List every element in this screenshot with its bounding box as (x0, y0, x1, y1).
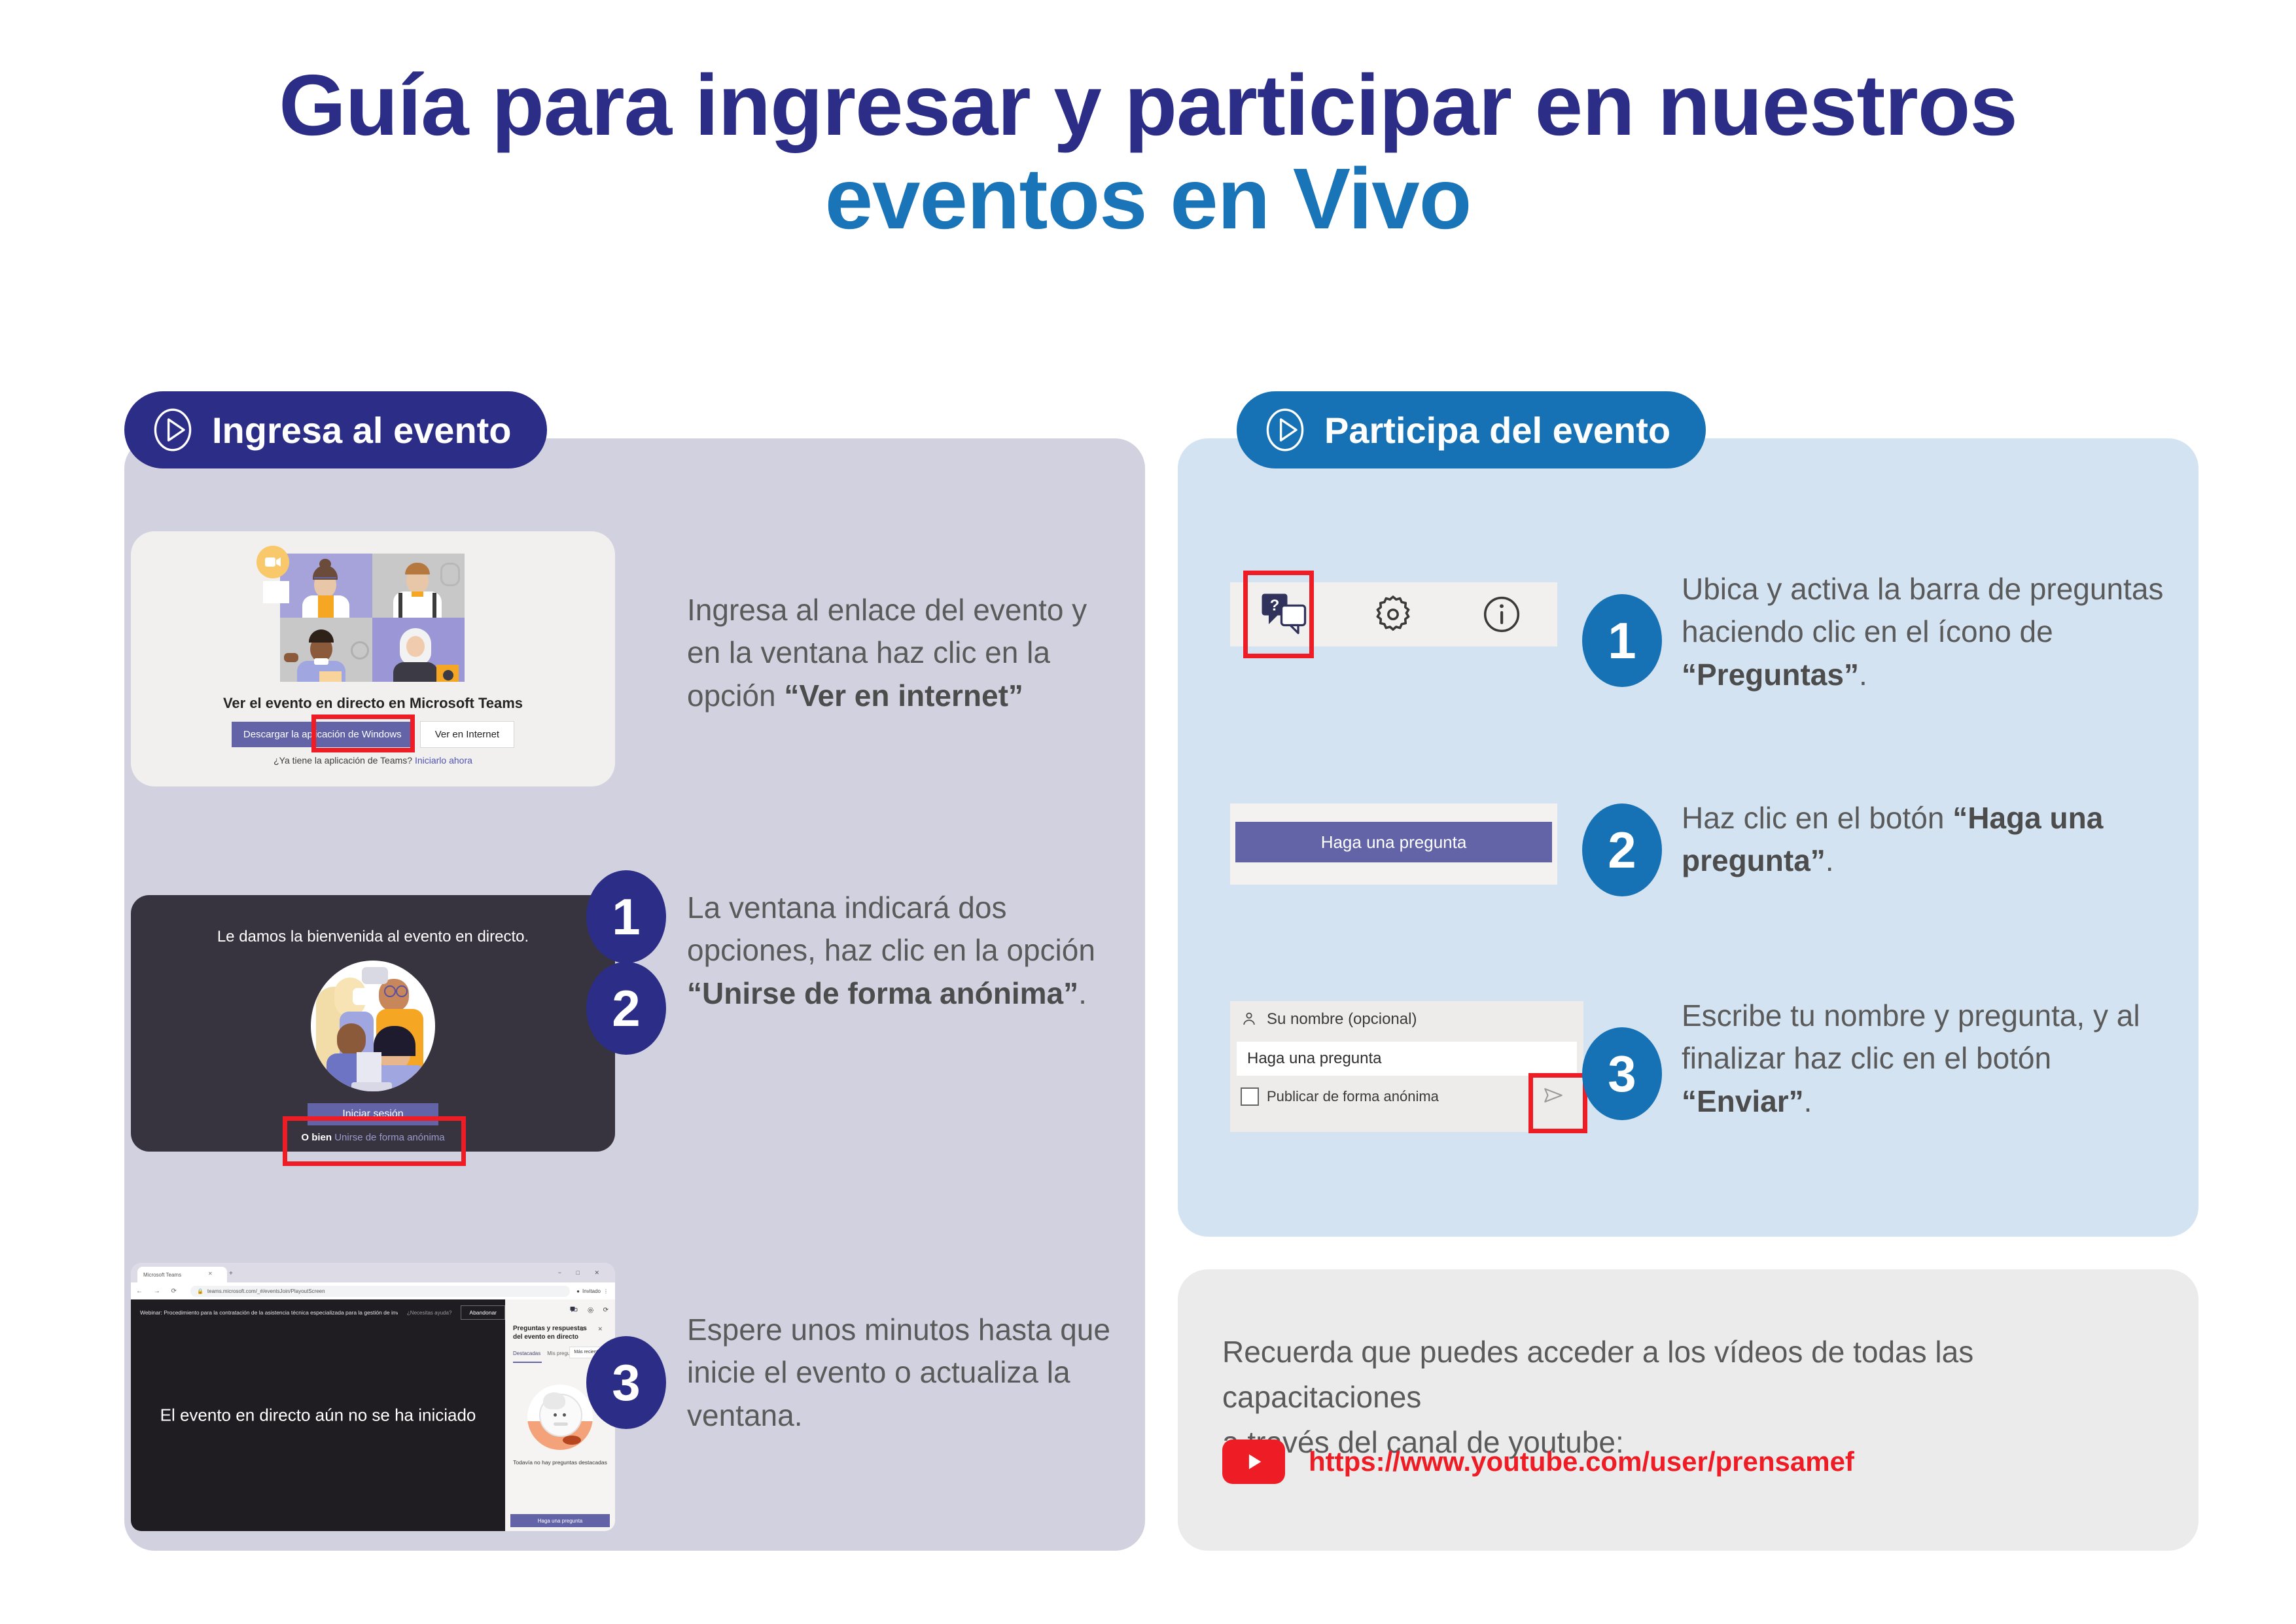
step-badge-right-2: 2 (1582, 803, 1662, 896)
anonymous-checkbox-label: Publicar de forma anónima (1267, 1088, 1439, 1105)
teams-footer-text: ¿Ya tiene la aplicación de Teams? (274, 755, 415, 766)
step-text-left-1: Ingresa al enlace del evento y en la ven… (687, 589, 1112, 717)
camera-preview-box (263, 581, 289, 603)
profile-avatar-icon: ● (576, 1288, 580, 1294)
live-event-video-pane: Webinar: Procedimiento para la contratac… (131, 1299, 505, 1531)
highlight-box-send-button (1528, 1073, 1587, 1133)
step-text-right-1: Ubica y activa la barra de preguntas hac… (1682, 568, 2179, 696)
refresh-icon[interactable]: ⟳ (603, 1307, 609, 1314)
youtube-link-row[interactable]: https://www.youtube.com/user/prensamef (1222, 1439, 1854, 1484)
profile-label: Invitado (582, 1288, 601, 1294)
step-text-right-1-pre: Ubica y activa la barra de preguntas hac… (1682, 572, 2163, 648)
step-text-left-2-pre: La ventana indicará dos opciones, haz cl… (687, 891, 1095, 967)
step-text-left-3-pre: Espere unos minutos hasta que inicie el … (687, 1313, 1110, 1432)
browser-tab[interactable]: Microsoft Teams (137, 1267, 227, 1282)
browser-address-bar: ← → ⟳ 🔒 teams.microsoft.com/_#/eventsJoi… (131, 1282, 615, 1299)
qa-tab-underline (513, 1362, 542, 1363)
webinar-title: Webinar: Procedimiento para la contratac… (140, 1309, 398, 1316)
ask-question-button-screenshot: Haga una pregunta (1230, 803, 1557, 885)
anonymous-checkbox-row[interactable]: Publicar de forma anónima (1241, 1087, 1439, 1106)
browser-tab-title: Microsoft Teams (143, 1272, 181, 1278)
step-text-right-3-pre: Escribe tu nombre y pregunta, y al final… (1682, 998, 2140, 1075)
name-field-row[interactable]: Su nombre (opcional) (1241, 1010, 1417, 1029)
participant-tile (280, 618, 372, 682)
person-icon (1241, 1010, 1258, 1029)
step-text-right-2-post: . (1826, 843, 1834, 877)
question-input[interactable]: Haga una pregunta (1237, 1042, 1577, 1076)
youtube-url-link[interactable]: https://www.youtube.com/user/prensamef (1309, 1446, 1854, 1477)
participant-tile (280, 554, 372, 618)
step-text-right-3: Escribe tu nombre y pregunta, y al final… (1682, 995, 2179, 1123)
window-controls[interactable]: − □ ✕ (558, 1269, 606, 1277)
page-title: Guía para ingresar y participar en nuest… (0, 59, 2296, 245)
section-header-ingresa-label: Ingresa al evento (212, 409, 512, 451)
teams-join-footer: ¿Ya tiene la aplicación de Teams? Inicia… (131, 755, 615, 766)
step-text-left-2: La ventana indicará dos opciones, haz cl… (687, 887, 1112, 1015)
browser-menu-icon[interactable]: ⋮ (603, 1288, 609, 1294)
step-text-right-2: Haz clic en el botón “Haga una pregunta”… (1682, 797, 2179, 883)
qa-empty-message: Todavía no hay preguntas destacadas (509, 1459, 611, 1466)
title-line-2: eventos en Vivo (0, 152, 2296, 246)
browser-screenshot: Microsoft Teams ✕ + − □ ✕ ← → ⟳ 🔒 teams.… (131, 1263, 615, 1531)
section-header-participa: Participa del evento (1237, 391, 1706, 468)
step-text-right-3-bold: “Enviar” (1682, 1084, 1804, 1118)
url-text: teams.microsoft.com/_#/eventsJoin/Playou… (207, 1288, 325, 1294)
welcome-illustration (311, 961, 435, 1091)
info-circle-icon[interactable] (1480, 593, 1523, 636)
ask-question-button[interactable]: Haga una pregunta (1235, 822, 1552, 862)
highlight-box-questions-icon (1243, 571, 1314, 658)
browser-tab-bar: Microsoft Teams ✕ + − □ ✕ (131, 1263, 615, 1282)
qa-toolbar-icons[interactable]: ⟳ (570, 1306, 609, 1314)
highlight-box-anonymous-join (283, 1116, 466, 1166)
step-badge-right-3: 3 (1582, 1027, 1662, 1120)
step-badge-left-3: 3 (586, 1336, 666, 1429)
qa-close-icons[interactable]: ⏱ ✕ (580, 1326, 609, 1333)
highlight-box-watch-on-web (311, 715, 415, 752)
step-text-right-1-post: . (1859, 658, 1867, 692)
step-text-left-3: Espere unos minutos hasta que inicie el … (687, 1309, 1112, 1437)
play-circle-icon (1263, 408, 1307, 452)
url-input[interactable]: 🔒 teams.microsoft.com/_#/eventsJoin/Play… (190, 1286, 570, 1297)
anonymous-checkbox[interactable] (1241, 1087, 1259, 1106)
participant-tile (372, 554, 465, 618)
webinar-header-bar: Webinar: Procedimiento para la contratac… (131, 1299, 505, 1326)
step-text-left-1-bold: “Ver en internet” (784, 679, 1023, 713)
step-badge-left-2: 2 (586, 962, 666, 1055)
browser-profile-area[interactable]: ● Invitado ⋮ (576, 1288, 609, 1294)
teams-participant-grid (280, 554, 465, 682)
step-badge-right-1: 1 (1582, 594, 1662, 687)
questions-icon[interactable] (570, 1306, 578, 1314)
step-text-left-2-post: . (1078, 976, 1087, 1010)
teams-footer-link[interactable]: Iniciarlo ahora (415, 755, 472, 766)
new-tab-icon[interactable]: + (229, 1270, 233, 1277)
settings-gear-icon[interactable] (1371, 593, 1415, 636)
close-tab-icon[interactable]: ✕ (208, 1271, 213, 1277)
qa-tab-featured[interactable]: Destacadas (513, 1350, 540, 1356)
teams-join-heading: Ver el evento en directo en Microsoft Te… (131, 695, 615, 712)
info-icon-slot[interactable] (1447, 593, 1556, 636)
play-circle-icon (150, 408, 195, 452)
browser-nav-icons[interactable]: ← → ⟳ (136, 1288, 181, 1295)
leave-button[interactable]: Abandonar (461, 1305, 505, 1320)
welcome-screenshot: Le damos la bienvenida al evento en dire… (131, 895, 615, 1152)
name-field-placeholder: Su nombre (opcional) (1267, 1010, 1417, 1029)
step-text-right-1-bold: “Preguntas” (1682, 658, 1859, 692)
section-header-participa-label: Participa del evento (1324, 409, 1670, 451)
youtube-note-line1: Recuerda que puedes acceder a los vídeos… (1222, 1330, 2151, 1420)
step-text-right-3-post: . (1804, 1084, 1812, 1118)
settings-gear-icon[interactable] (587, 1307, 594, 1314)
qa-empty-illustration (527, 1385, 593, 1450)
youtube-icon (1222, 1439, 1285, 1484)
camera-badge-icon (256, 546, 289, 578)
help-link[interactable]: ¿Necesitas ayuda? (407, 1310, 451, 1316)
qa-ask-question-button[interactable]: Haga una pregunta (510, 1514, 610, 1527)
lock-icon: 🔒 (197, 1288, 203, 1294)
step-text-left-2-bold: “Unirse de forma anónima” (687, 976, 1078, 1010)
watch-on-web-button[interactable]: Ver en Internet (420, 721, 514, 748)
step-text-right-2-pre: Haz clic en el botón (1682, 801, 1952, 835)
title-line-1: Guía para ingresar y participar en nuest… (0, 59, 2296, 152)
video-status-message: El evento en directo aún no se ha inicia… (131, 1405, 505, 1426)
welcome-heading: Le damos la bienvenida al evento en dire… (131, 928, 615, 946)
section-header-ingresa: Ingresa al evento (124, 391, 547, 468)
step-badge-left-1: 1 (586, 870, 666, 963)
settings-icon-slot[interactable] (1339, 593, 1447, 636)
participant-tile (372, 618, 465, 682)
